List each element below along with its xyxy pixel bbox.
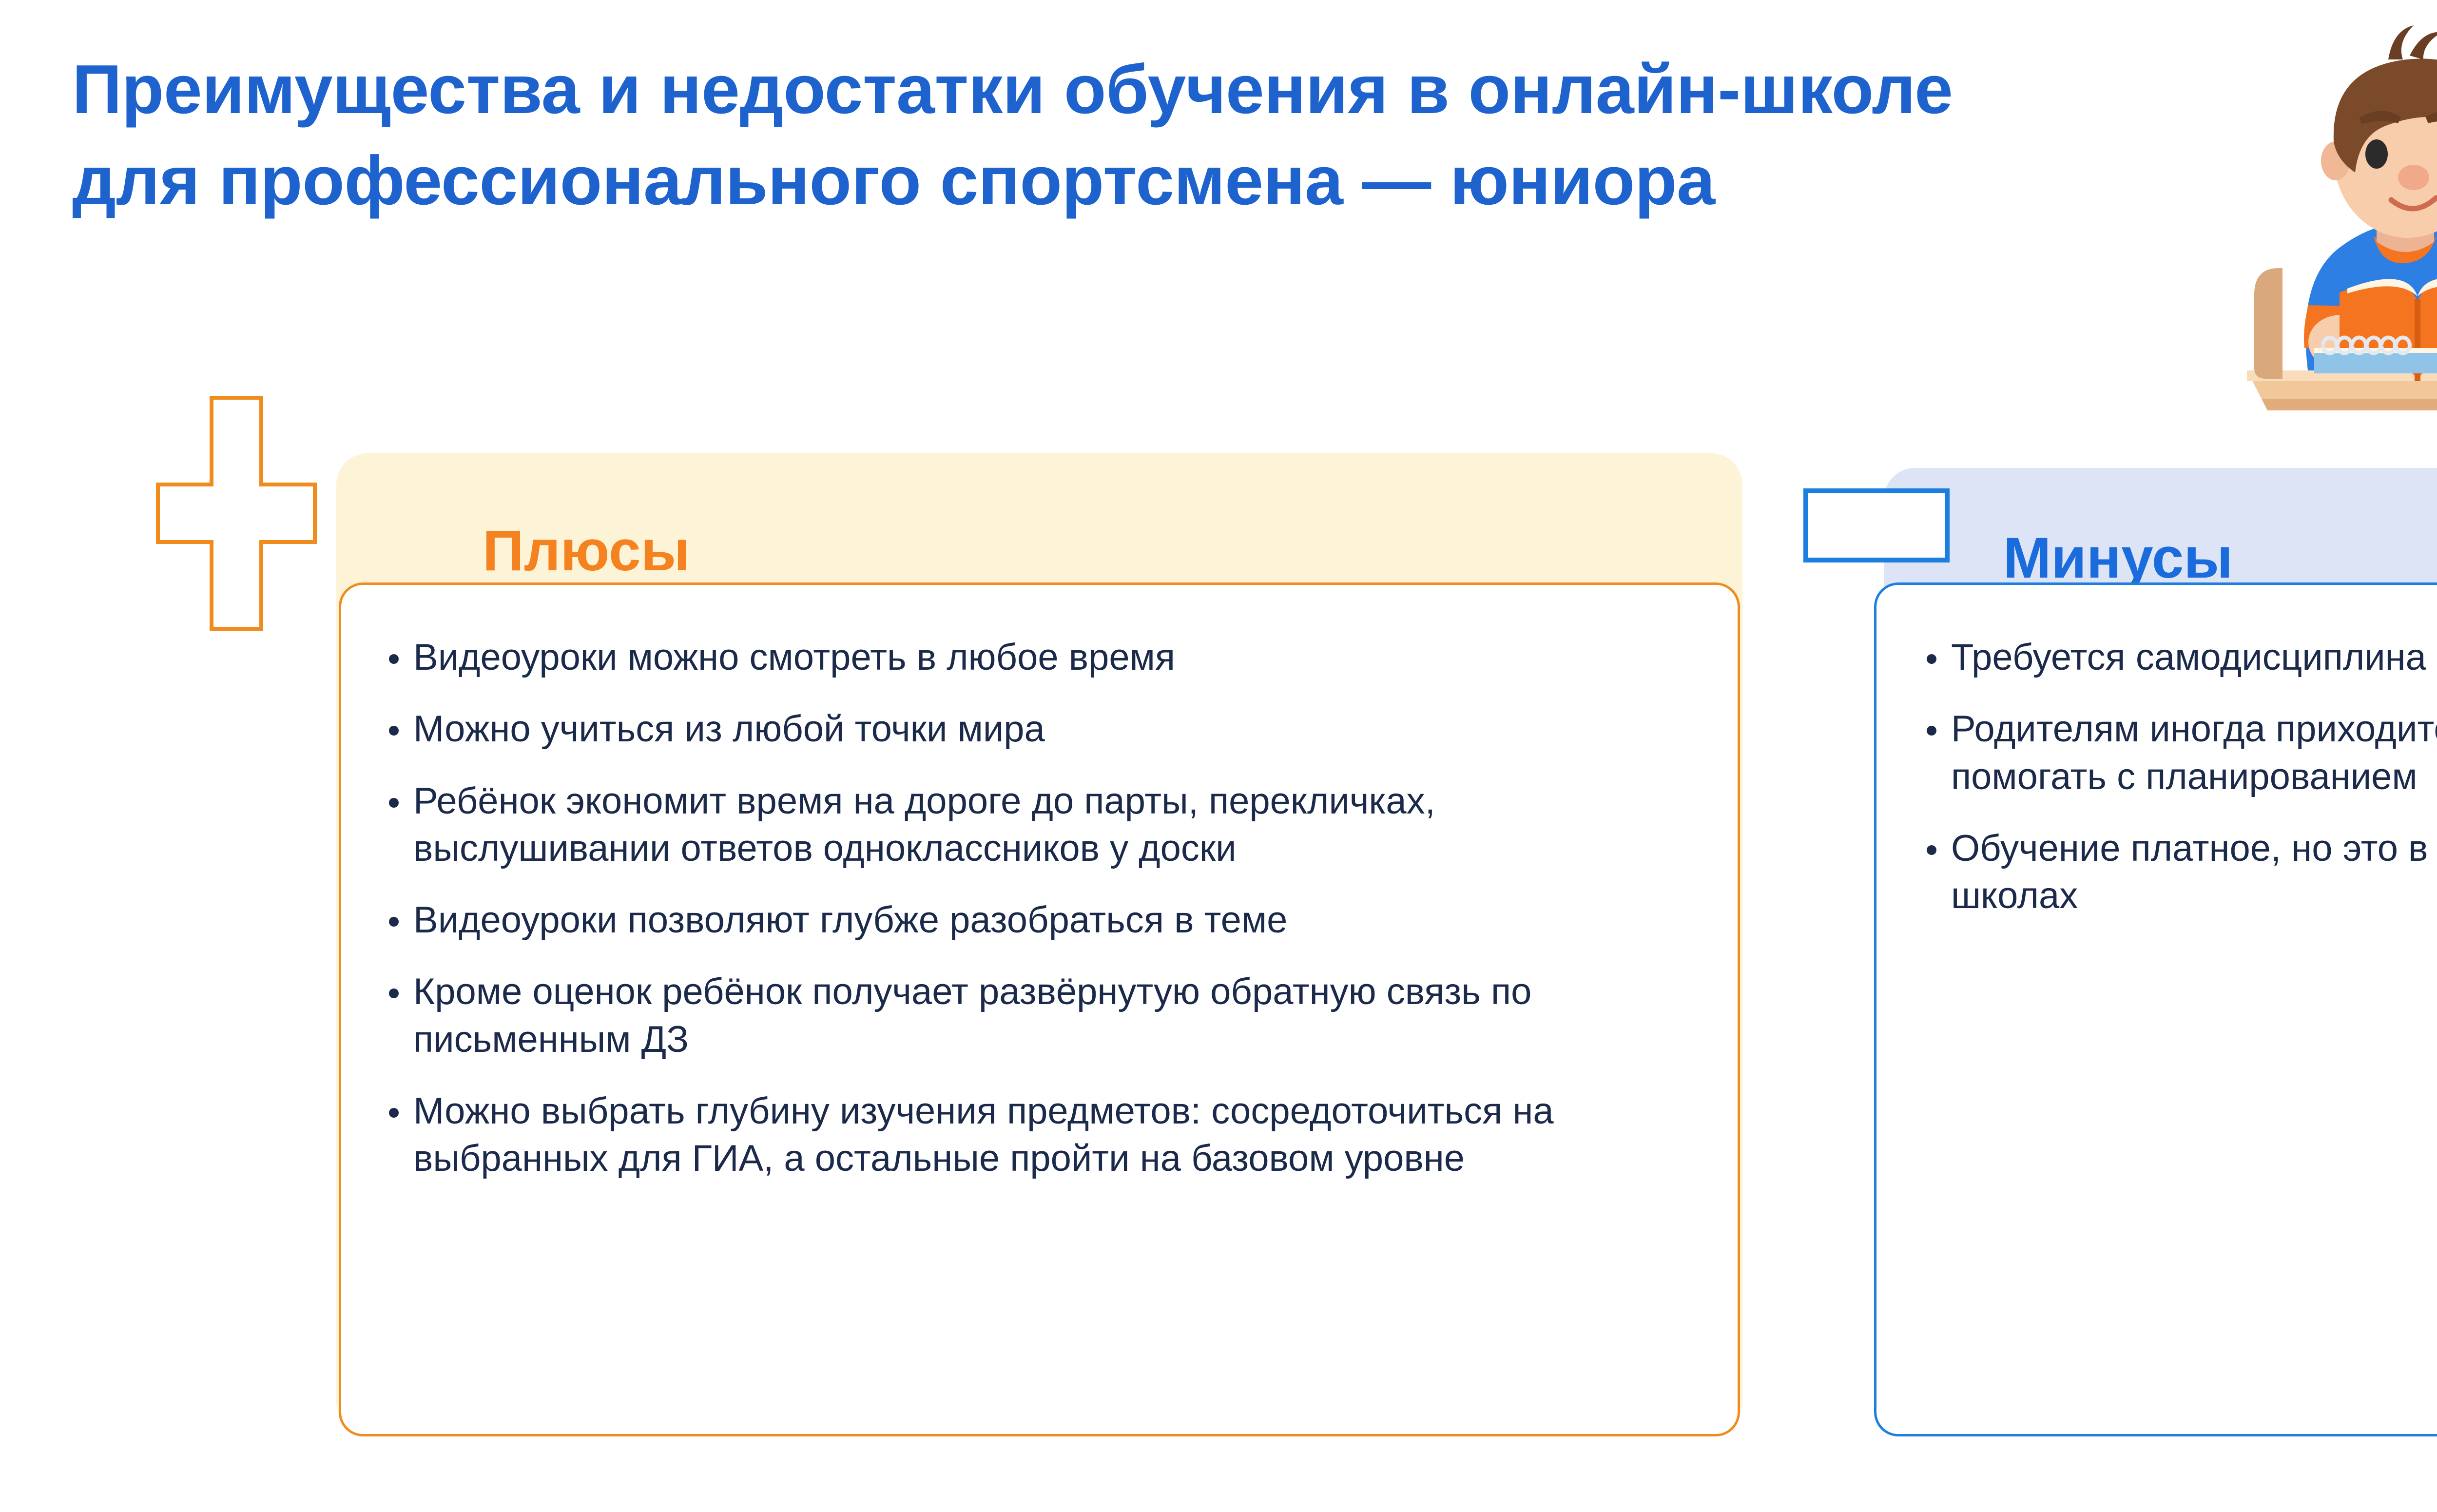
pros-list: Видеоуроки можно смотреть в любое время … bbox=[385, 634, 1701, 1182]
list-item: Можно выбрать глубину изучения предметов… bbox=[385, 1087, 1701, 1182]
pros-card-title: Плюсы bbox=[483, 522, 690, 580]
list-item: Родителям иногда приходится быть менедже… bbox=[1923, 705, 2437, 800]
plus-icon bbox=[156, 396, 317, 631]
list-item: Видеоуроки можно смотреть в любое время bbox=[385, 634, 1701, 681]
cons-list: Требуется самодисциплина Родителям иногд… bbox=[1923, 634, 2437, 919]
list-item: Кроме оценок ребёнок получает развёрнуту… bbox=[385, 968, 1701, 1063]
page-title: Преимущества и недостатки обучения в онл… bbox=[72, 44, 2295, 227]
minus-icon bbox=[1803, 488, 1950, 562]
title-line-2: для профессионального спортсмена — юниор… bbox=[72, 135, 2295, 226]
list-item: Требуется самодисциплина bbox=[1923, 634, 2437, 681]
list-item: Видеоуроки позволяют глубже разобраться … bbox=[385, 896, 1701, 944]
slide-root: Преимущества и недостатки обучения в онл… bbox=[0, 0, 2437, 1512]
list-item: Обучение платное, но это в 5–20 раз деше… bbox=[1923, 825, 2437, 920]
title-line-1: Преимущества и недостатки обучения в онл… bbox=[72, 44, 2295, 135]
list-item: Ребёнок экономит время на дороге до парт… bbox=[385, 777, 1701, 872]
student-illustration bbox=[2213, 0, 2437, 434]
cons-card-title: Минусы bbox=[2003, 529, 2233, 587]
list-item: Можно учиться из любой точки мира bbox=[385, 705, 1701, 753]
